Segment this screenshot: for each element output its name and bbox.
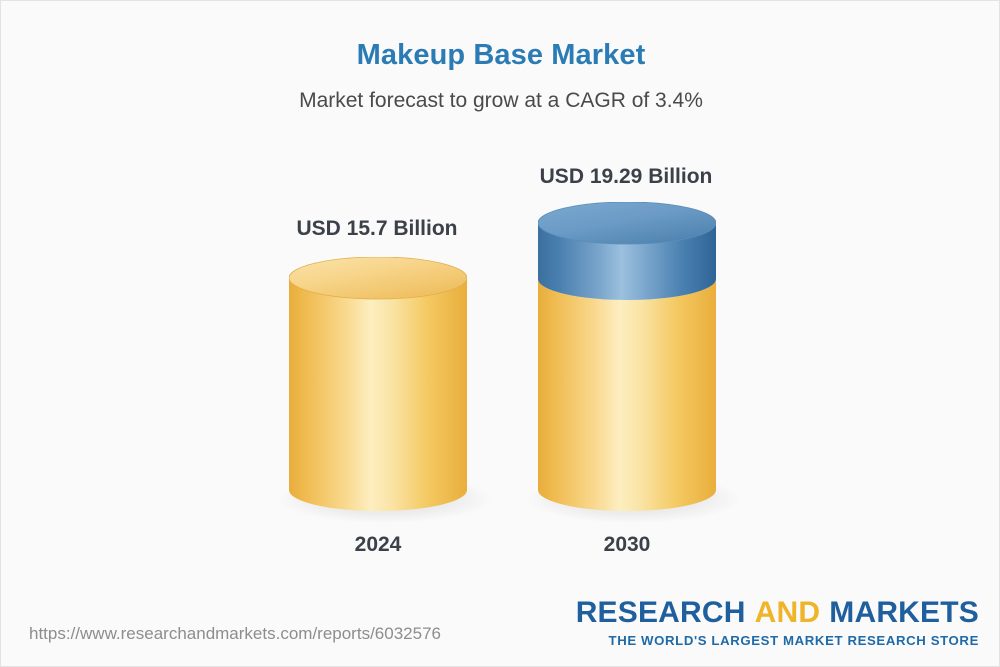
logo-tagline: THE WORLD'S LARGEST MARKET RESEARCH STOR…	[576, 633, 979, 648]
plot-area: USD 15.7 Billion	[1, 1, 1000, 601]
source-url[interactable]: https://www.researchandmarkets.com/repor…	[29, 624, 441, 644]
logo-wordmark: RESEARCHANDMARKETS	[576, 598, 979, 628]
cylinder-2030	[538, 202, 716, 511]
chart-canvas: Makeup Base Market Market forecast to gr…	[0, 0, 1000, 667]
research-and-markets-logo[interactable]: RESEARCHANDMARKETS THE WORLD'S LARGEST M…	[576, 598, 979, 648]
logo-word-markets: MARKETS	[829, 596, 979, 629]
value-label-2024: USD 15.7 Billion	[247, 217, 507, 241]
category-label-2024: 2024	[248, 533, 508, 557]
logo-word-research: RESEARCH	[576, 596, 746, 629]
category-label-2030: 2030	[497, 533, 757, 557]
cylinder-2024	[289, 257, 467, 511]
logo-word-and: AND	[755, 596, 821, 629]
value-label-2030: USD 19.29 Billion	[496, 165, 756, 189]
